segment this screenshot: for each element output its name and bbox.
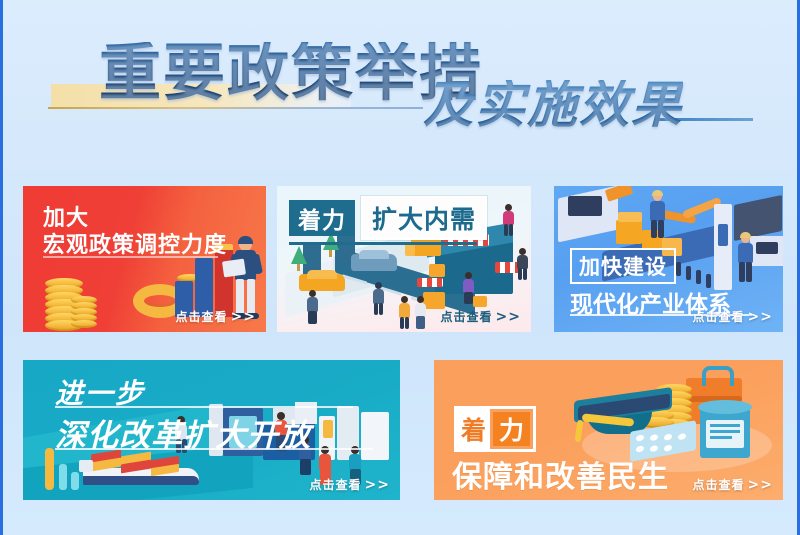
jar-label-line-3	[710, 436, 732, 439]
chart-bar-cyan-2	[71, 472, 79, 490]
card-title-underline-1	[55, 406, 353, 408]
jar-lid	[698, 400, 752, 414]
cta-arrow-icon: >>	[365, 477, 390, 493]
card-title-box: 扩大内需	[361, 196, 487, 240]
jar-label-line-1	[710, 424, 740, 427]
machine-column	[714, 204, 732, 290]
parcel-1	[429, 264, 445, 277]
tree-1	[291, 246, 307, 271]
card-title-line2: 保障和改善民生	[452, 452, 669, 496]
card-title-char-1: 着	[457, 409, 490, 449]
card-title-char-2: 力	[493, 412, 530, 446]
card-title-underline	[43, 256, 218, 258]
bolt-1	[676, 262, 681, 276]
machine-right-screen	[756, 242, 778, 254]
cta-label: 点击查看	[310, 478, 362, 492]
crate-1-top	[618, 212, 642, 222]
card-macro-policy[interactable]: 加大 宏观政策调控力度 点击查看>>	[23, 186, 266, 332]
booth-accent	[323, 420, 333, 438]
card-domestic-demand[interactable]: 着力 扩大内需 点击查看>>	[277, 186, 531, 332]
cta-arrow-icon: >>	[496, 309, 521, 325]
parcel-2	[423, 292, 445, 309]
cta-arrow-icon: >>	[231, 309, 256, 325]
car-blue-top	[359, 250, 389, 259]
car-yellow-top	[307, 270, 337, 279]
card-title-badge: 着力	[289, 200, 355, 236]
jar-label-line-2	[710, 430, 740, 433]
cta-label: 点击查看	[176, 310, 228, 324]
card-title-underline-2	[55, 448, 373, 450]
chart-bar-yellow	[45, 448, 54, 490]
column-panel	[718, 224, 728, 246]
machine-left-screen	[568, 196, 602, 216]
cta-link[interactable]: 点击查看>>	[441, 308, 521, 325]
card-reform-opening[interactable]: 进一步 深化改革扩大开放 点击查看>>	[23, 360, 400, 500]
robot-arm-orange	[605, 186, 633, 202]
page-subtitle: 及实施效果	[423, 80, 683, 130]
cta-label: 点击查看	[693, 478, 745, 492]
infographic-page: 重要政策举措 及实施效果	[0, 0, 800, 535]
cta-label: 点击查看	[441, 310, 493, 324]
cta-arrow-icon: >>	[748, 309, 773, 325]
page-header: 重要政策举措 及实施效果	[3, 0, 797, 175]
chart-bar-cyan-1	[59, 464, 67, 490]
truck-cab	[405, 244, 415, 256]
parcel-3	[473, 296, 487, 307]
bolt-2	[686, 266, 691, 280]
bolt-3	[696, 270, 701, 284]
card-title-badge: 着 力	[454, 406, 536, 452]
crate-1	[616, 220, 642, 244]
card-modern-industry[interactable]: 加快建设 现代化产业体系 点击查看>>	[554, 186, 783, 332]
delivery-truck	[411, 238, 441, 256]
card-title-box: 加快建设	[570, 248, 676, 284]
cta-link[interactable]: 点击查看>>	[693, 308, 773, 325]
cta-link[interactable]: 点击查看>>	[310, 476, 390, 493]
cta-link[interactable]: 点击查看>>	[176, 308, 256, 325]
briefcase-handle	[702, 366, 734, 386]
awning-stall-left	[417, 278, 443, 287]
card-title-line1: 加快建设	[579, 251, 667, 281]
card-peoples-livelihood[interactable]: 着 力 保障和改善民生 点击查看>>	[434, 360, 783, 500]
booth-panel-4	[361, 412, 389, 460]
card-title-underline	[289, 242, 477, 245]
card-title-line2: 宏观政策调控力度	[43, 227, 227, 259]
card-title-line2: 扩大内需	[372, 200, 476, 236]
cta-label: 点击查看	[693, 310, 745, 324]
cta-link[interactable]: 点击查看>>	[693, 476, 773, 493]
cta-arrow-icon: >>	[748, 477, 773, 493]
card-title-line1: 着力	[298, 201, 346, 235]
